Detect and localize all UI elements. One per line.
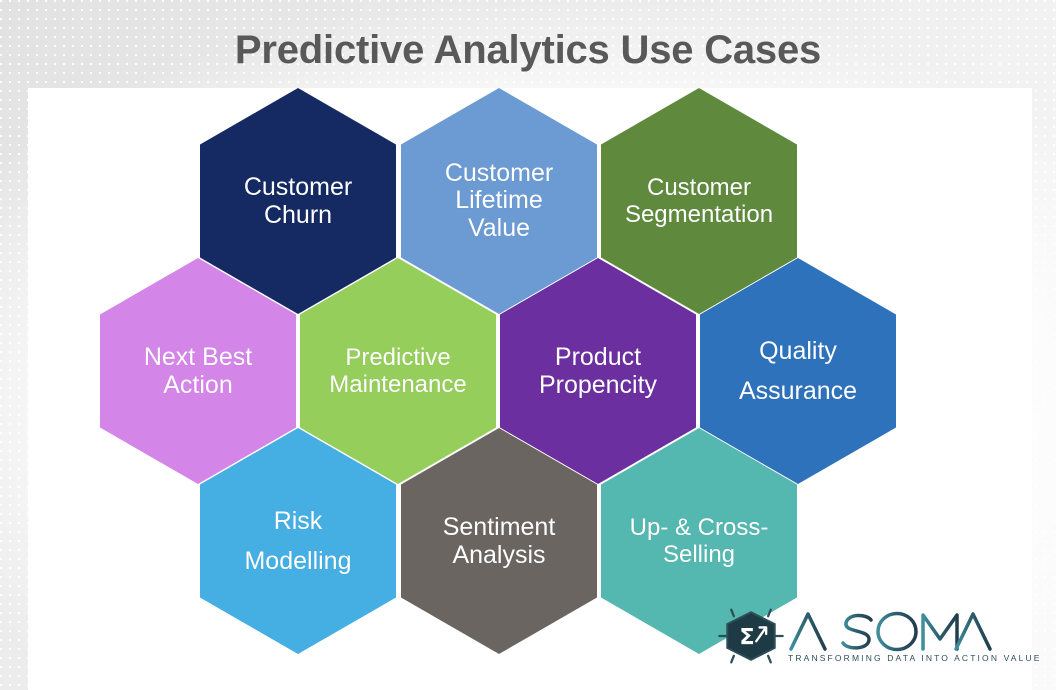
hexagon-sigma-icon: Σ	[718, 607, 784, 665]
hexagon-label: CustomerChurn	[216, 173, 380, 230]
hexagon-label: QualityAssurance	[716, 331, 880, 412]
hexagon-label: PredictiveMaintenance	[316, 344, 480, 399]
hexagon-label: CustomerSegmentation	[617, 174, 781, 229]
slide-canvas: Predictive Analytics Use Cases CustomerC…	[0, 0, 1056, 690]
hexagon-label: CustomerLifetimeValue	[417, 160, 581, 243]
aisoma-wordmark	[788, 610, 993, 652]
hexagon-label: ProductPropencity	[516, 343, 680, 400]
hexagon-diagram: CustomerChurn CustomerLifetimeValue Cust…	[0, 0, 1056, 690]
hexagon-label: Up- & Cross-Selling	[617, 514, 781, 569]
hexagon-label: RiskModelling	[216, 501, 380, 582]
hexagon-label: SentimentAnalysis	[417, 513, 581, 570]
aisoma-wordmark-group: TRANSFORMING DATA INTO ACTION VALUE	[788, 610, 993, 663]
aisoma-tagline: TRANSFORMING DATA INTO ACTION VALUE	[788, 653, 993, 663]
aisoma-logo[interactable]: Σ	[718, 603, 998, 669]
svg-text:Σ: Σ	[739, 625, 754, 651]
hexagon-label: Next BestAction	[116, 343, 280, 400]
